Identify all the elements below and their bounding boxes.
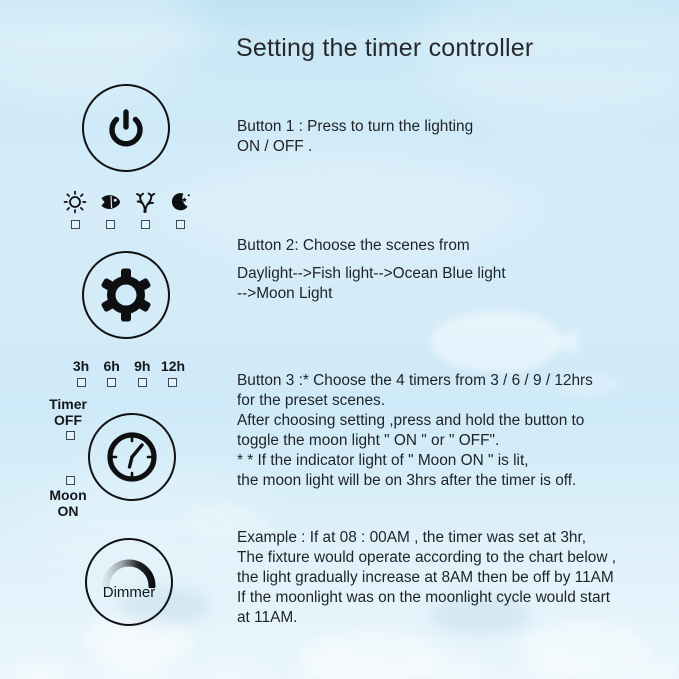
scene-button[interactable] <box>82 251 170 339</box>
coral-icon <box>134 190 158 214</box>
diagram-foreground: Setting the timer controller <box>0 0 679 679</box>
scene-indicator-daylight[interactable] <box>71 220 80 229</box>
scene-indicator-boxes <box>63 220 193 229</box>
moon-icon <box>169 190 193 214</box>
fish-icon <box>98 190 122 214</box>
timer-indicator-3h-wrap <box>66 378 96 387</box>
page-title: Setting the timer controller <box>236 34 533 63</box>
timer-off-label-line1: Timer <box>38 396 98 412</box>
timer-label-9h: 9h <box>127 358 157 374</box>
dimmer-label: Dimmer <box>87 584 171 601</box>
clock-icon <box>104 429 160 485</box>
sun-icon <box>63 190 87 214</box>
timer-indicator-3h[interactable] <box>77 378 86 387</box>
timer-label-12h: 12h <box>158 358 188 374</box>
moon-on-label-line1: Moon <box>38 487 98 503</box>
timer-off-label-line2: OFF <box>38 412 98 428</box>
timer-label-6h: 6h <box>97 358 127 374</box>
scene-indicator-fish-wrap <box>98 220 122 229</box>
scene-indicator-fish[interactable] <box>106 220 115 229</box>
instruction-example: Example : If at 08 : 00AM , the timer wa… <box>237 528 616 628</box>
power-button[interactable] <box>82 84 170 172</box>
power-icon <box>106 108 146 148</box>
instruction-button3: Button 3 :* Choose the 4 timers from 3 /… <box>237 371 593 491</box>
timer-indicator-12h[interactable] <box>168 378 177 387</box>
timer-button[interactable] <box>88 413 176 501</box>
timer-indicator-9h-wrap <box>127 378 157 387</box>
moon-on-label-line2: ON <box>38 503 98 519</box>
timer-indicator-9h[interactable] <box>138 378 147 387</box>
timer-duration-labels: 3h 6h 9h 12h <box>66 358 188 374</box>
timer-off-label: Timer OFF <box>38 396 98 428</box>
timer-duration-row: 3h 6h 9h 12h <box>66 358 188 387</box>
timer-indicator-6h-wrap <box>97 378 127 387</box>
scene-indicator-daylight-wrap <box>63 220 87 229</box>
moon-on-indicator[interactable] <box>66 476 75 485</box>
scene-indicator-row <box>63 190 193 229</box>
instruction-button2-heading: Button 2: Choose the scenes from <box>237 236 470 256</box>
timer-indicator-12h-wrap <box>158 378 188 387</box>
instruction-button1: Button 1 : Press to turn the lighting ON… <box>237 117 473 157</box>
scene-indicator-ocean-wrap <box>134 220 158 229</box>
scene-indicator-ocean[interactable] <box>141 220 150 229</box>
timer-label-3h: 3h <box>66 358 96 374</box>
instruction-button2-body: Daylight-->Fish light-->Ocean Blue light… <box>237 264 506 304</box>
moon-on-label: Moon ON <box>38 487 98 519</box>
gear-icon <box>99 268 153 322</box>
timer-indicator-6h[interactable] <box>107 378 116 387</box>
dimmer-button[interactable]: Dimmer <box>85 538 173 626</box>
scene-indicator-moon[interactable] <box>176 220 185 229</box>
timer-off-indicator[interactable] <box>66 431 75 440</box>
scene-indicator-moon-wrap <box>169 220 193 229</box>
timer-duration-boxes <box>66 378 188 387</box>
scene-icons <box>63 190 193 214</box>
